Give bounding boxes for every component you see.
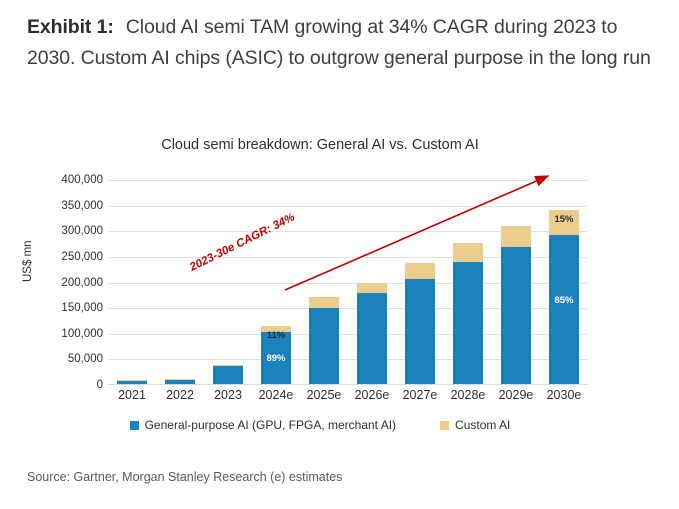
bar-segment-custom-ai[interactable] (453, 243, 483, 262)
chart-title: Cloud semi breakdown: General AI vs. Cus… (0, 137, 640, 153)
bar-data-label-general-ai: 89% (261, 353, 291, 364)
bar-segment-general-ai[interactable] (309, 308, 339, 385)
bar-segment-general-ai[interactable] (453, 262, 483, 385)
y-axis-tick: 300,000 (61, 225, 103, 237)
x-axis-tick: 2026e (348, 388, 396, 402)
x-axis-tick: 2022 (156, 388, 204, 402)
bar-segment-general-ai[interactable] (405, 279, 435, 385)
x-axis-line (108, 384, 588, 385)
bar-segment-general-ai[interactable]: 85% (549, 235, 579, 385)
legend-item-general-ai[interactable]: General-purpose AI (GPU, FPGA, merchant … (130, 418, 396, 432)
bar-group[interactable]: 89%11% (261, 326, 291, 385)
x-axis-tick: 2027e (396, 388, 444, 402)
y-axis-tick: 200,000 (61, 277, 103, 289)
gridline (108, 206, 588, 207)
x-axis-tick: 2025e (300, 388, 348, 402)
bar-group[interactable] (213, 365, 243, 386)
bar-segment-custom-ai[interactable] (501, 226, 531, 247)
y-axis-labels: 400,000350,000300,000250,000200,000150,0… (40, 180, 103, 385)
x-axis-labels: 2021202220232024e2025e2026e2027e2028e202… (108, 388, 588, 408)
x-axis-tick: 2029e (492, 388, 540, 402)
y-axis-tick: 100,000 (61, 328, 103, 340)
legend-label-general-ai: General-purpose AI (GPU, FPGA, merchant … (145, 418, 396, 432)
exhibit-header: Exhibit 1:Cloud AI semi TAM growing at 3… (27, 12, 657, 74)
y-axis-tick: 350,000 (61, 200, 103, 212)
bar-group[interactable] (309, 297, 339, 385)
x-axis-tick: 2028e (444, 388, 492, 402)
legend-item-custom-ai[interactable]: Custom AI (440, 418, 510, 432)
y-axis-tick: 0 (97, 379, 103, 391)
plot-area: 89%11%85%15% (108, 180, 588, 385)
legend-swatch-general-ai (130, 421, 139, 430)
bar-segment-custom-ai[interactable] (213, 365, 243, 367)
bar-group[interactable] (405, 263, 435, 385)
gridline (108, 180, 588, 181)
y-axis-tick: 150,000 (61, 302, 103, 314)
chart-legend: General-purpose AI (GPU, FPGA, merchant … (0, 418, 640, 432)
legend-label-custom-ai: Custom AI (455, 418, 510, 432)
y-axis-tick: 250,000 (61, 251, 103, 263)
bar-segment-custom-ai[interactable] (309, 297, 339, 308)
chart-figure: Cloud semi breakdown: General AI vs. Cus… (0, 130, 679, 460)
x-axis-tick: 2030e (540, 388, 588, 402)
bar-group[interactable] (357, 283, 387, 386)
bar-segment-general-ai[interactable] (501, 247, 531, 385)
bar-segment-general-ai[interactable] (213, 366, 243, 385)
exhibit-label: Exhibit 1: (27, 16, 114, 38)
bar-data-label-custom-ai: 15% (549, 214, 579, 225)
bar-segment-custom-ai[interactable] (357, 283, 387, 293)
bar-data-label-custom-ai: 11% (261, 330, 291, 341)
x-axis-tick: 2023 (204, 388, 252, 402)
bar-segment-general-ai[interactable] (357, 293, 387, 385)
y-axis-title: US$ mn (22, 240, 34, 282)
exhibit-caption: Cloud AI semi TAM growing at 34% CAGR du… (27, 16, 651, 69)
x-axis-tick: 2024e (252, 388, 300, 402)
y-axis-tick: 400,000 (61, 174, 103, 186)
legend-swatch-custom-ai (440, 421, 449, 430)
bar-data-label-general-ai: 85% (549, 295, 579, 306)
source-note: Source: Gartner, Morgan Stanley Research… (27, 470, 342, 484)
bar-group[interactable]: 85%15% (549, 210, 579, 385)
bar-segment-custom-ai[interactable] (405, 263, 435, 279)
x-axis-tick: 2021 (108, 388, 156, 402)
bar-segment-custom-ai[interactable]: 15% (549, 210, 579, 236)
bar-segment-custom-ai[interactable]: 11% (261, 326, 291, 332)
y-axis-tick: 50,000 (68, 353, 103, 365)
bar-group[interactable] (453, 243, 483, 385)
bar-group[interactable] (501, 226, 531, 385)
